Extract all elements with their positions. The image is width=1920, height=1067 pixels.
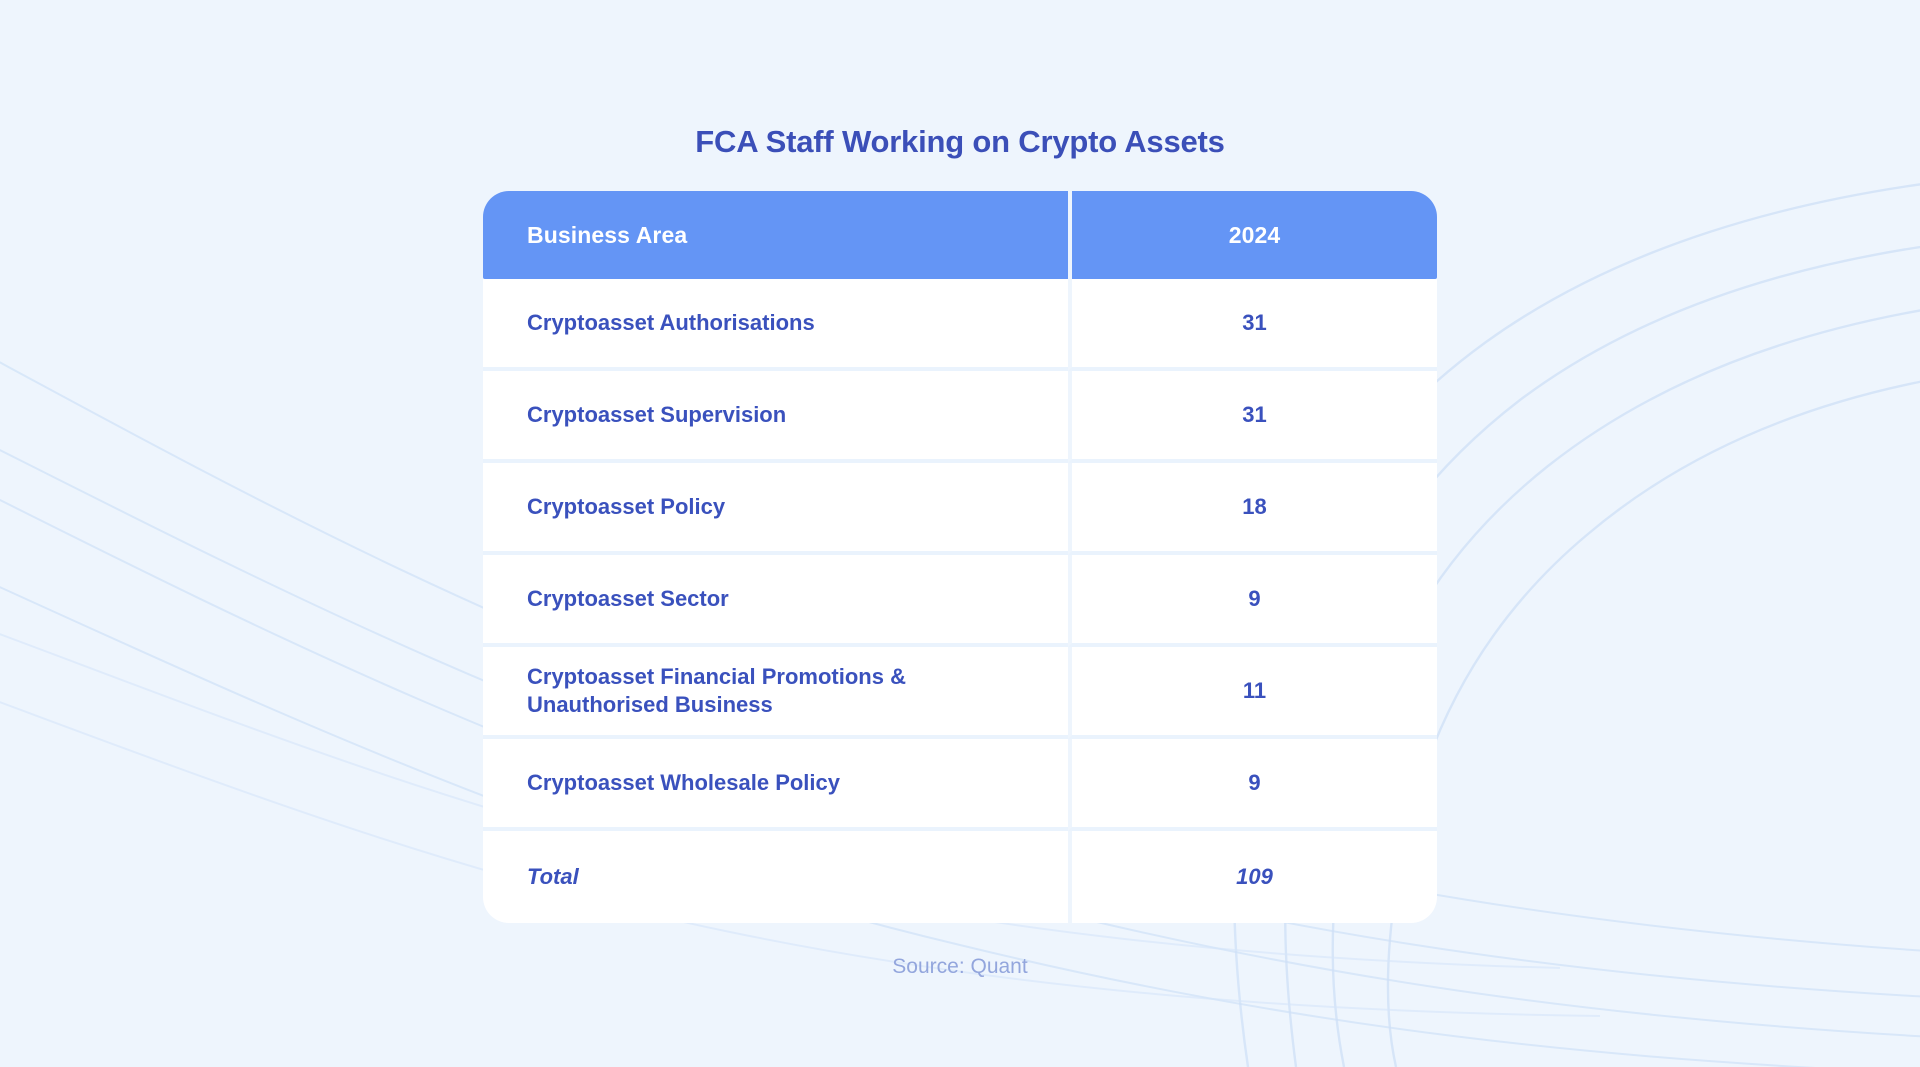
column-header-2024[interactable]: 2024 (1068, 191, 1437, 279)
cell-total-label: Total (483, 831, 1068, 923)
table-row[interactable]: Cryptoasset Supervision 31 (483, 371, 1437, 463)
page-title: FCA Staff Working on Crypto Assets (695, 126, 1224, 157)
table-container: Business Area 2024 Cryptoasset Authorisa… (483, 191, 1437, 923)
cell-business-area: Cryptoasset Supervision (483, 371, 1068, 463)
table-row[interactable]: Cryptoasset Financial Promotions & Unaut… (483, 647, 1437, 739)
cell-value-2024: 31 (1068, 371, 1437, 463)
table-header-row: Business Area 2024 (483, 191, 1437, 279)
cell-total-value: 109 (1068, 831, 1437, 923)
table-total-row[interactable]: Total 109 (483, 831, 1437, 923)
cell-value-2024: 31 (1068, 279, 1437, 371)
cell-business-area: Cryptoasset Financial Promotions & Unaut… (483, 647, 1068, 739)
table-body: Cryptoasset Authorisations 31 Cryptoasse… (483, 279, 1437, 923)
cell-value-2024: 11 (1068, 647, 1437, 739)
cell-business-area: Cryptoasset Authorisations (483, 279, 1068, 371)
column-header-business-area[interactable]: Business Area (483, 191, 1068, 279)
table-row[interactable]: Cryptoasset Sector 9 (483, 555, 1437, 647)
table-row[interactable]: Cryptoasset Policy 18 (483, 463, 1437, 555)
cell-value-2024: 18 (1068, 463, 1437, 555)
cell-business-area: Cryptoasset Policy (483, 463, 1068, 555)
source-note: Source: Quant (892, 955, 1027, 979)
cell-value-2024: 9 (1068, 555, 1437, 647)
cell-business-area: Cryptoasset Sector (483, 555, 1068, 647)
cell-business-area: Cryptoasset Wholesale Policy (483, 739, 1068, 831)
page-root: FCA Staff Working on Crypto Assets Busin… (0, 0, 1920, 1067)
table-row[interactable]: Cryptoasset Authorisations 31 (483, 279, 1437, 371)
table-row[interactable]: Cryptoasset Wholesale Policy 9 (483, 739, 1437, 831)
cell-value-2024: 9 (1068, 739, 1437, 831)
fca-staff-table: Business Area 2024 Cryptoasset Authorisa… (483, 191, 1437, 923)
table-header: Business Area 2024 (483, 191, 1437, 279)
